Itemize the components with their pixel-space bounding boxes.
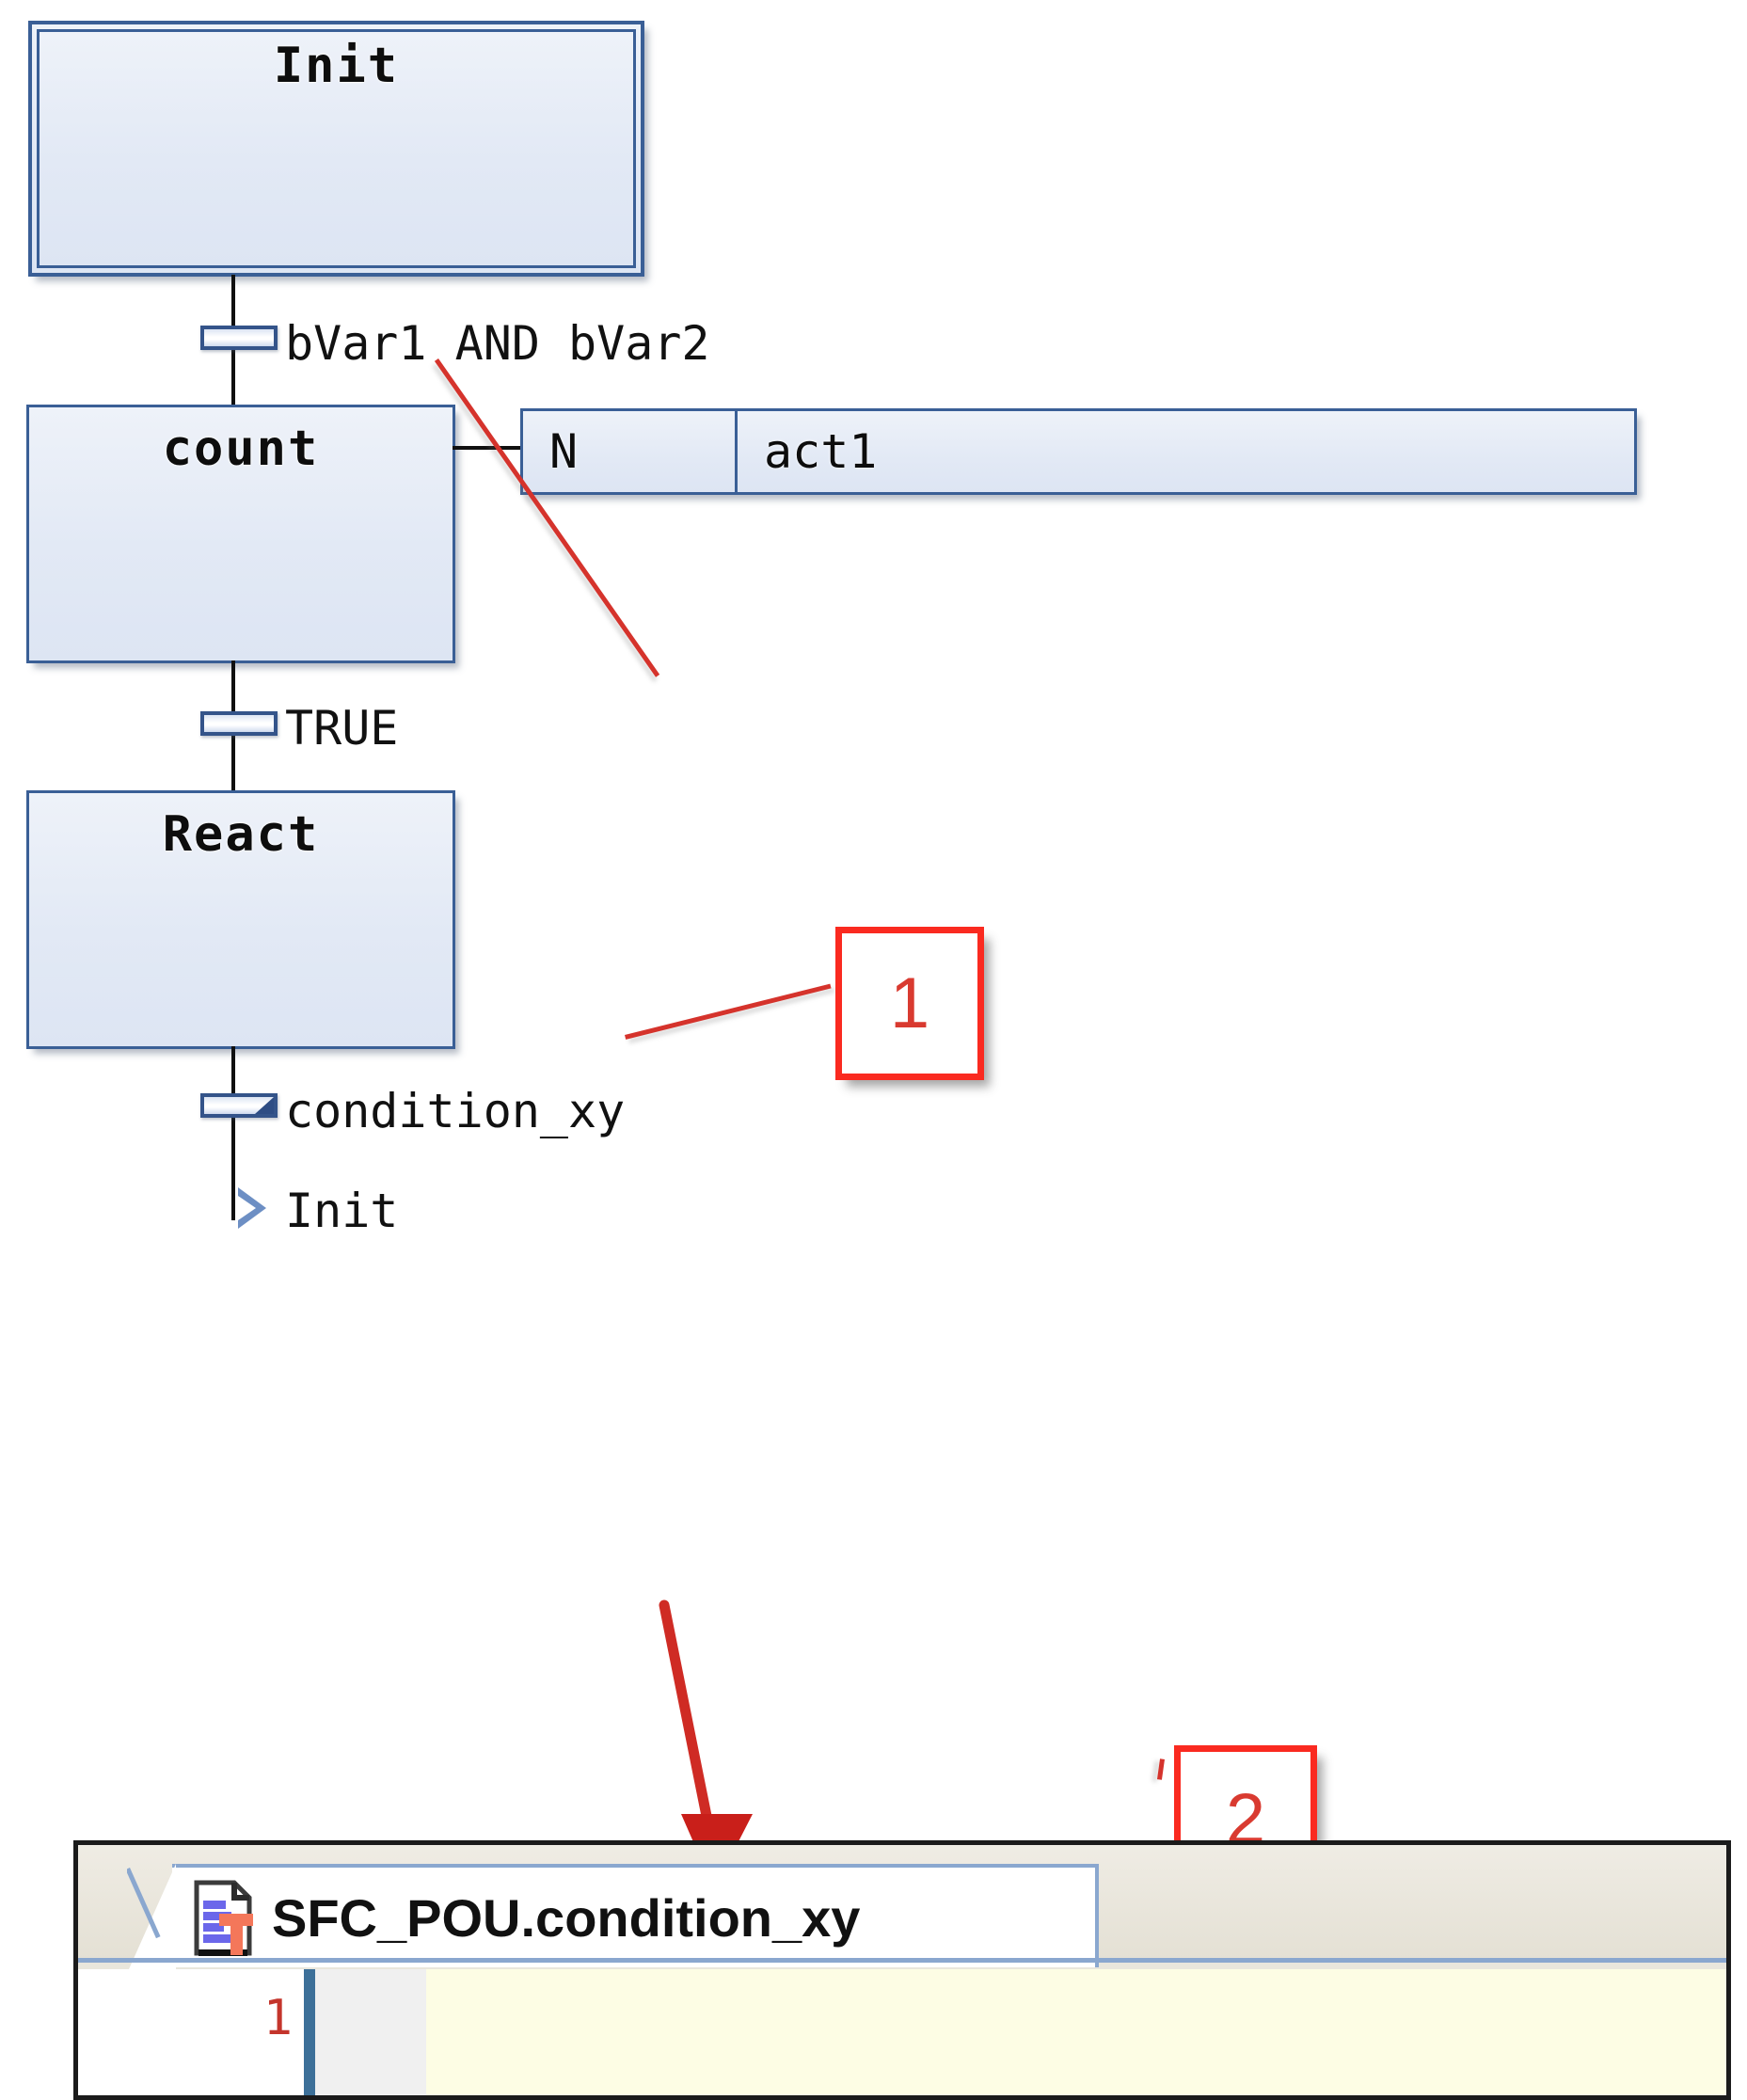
sfc-action-association[interactable]: N act1 [520, 408, 1637, 495]
action-name-text: act1 [738, 424, 877, 479]
sfc-transition-1-label: bVar1 AND bVar2 [285, 316, 710, 371]
st-code-line-1[interactable]: condition_xy:=(iy=100) AND bVar; [426, 1969, 1726, 2095]
connector-react-to-transition3 [231, 1046, 235, 1220]
callout-1-number: 1 [890, 968, 929, 1040]
editor-fold-gutter [315, 1969, 426, 2095]
st-transition-document-icon [193, 1880, 255, 1955]
callout-2-leader-line [1157, 1758, 1165, 1779]
action-qualifier-text: N [523, 424, 578, 479]
line-number-1: 1 [263, 1990, 293, 2046]
action-name-cell[interactable]: act1 [738, 411, 1634, 492]
sfc-step-count[interactable]: count [26, 405, 455, 663]
sfc-step-init-label: Init [32, 38, 641, 94]
sfc-step-init[interactable]: Init [28, 21, 644, 277]
editor-cursor-bar [304, 1969, 315, 2095]
sfc-step-count-label: count [29, 421, 453, 477]
callout-1-leader-line-a [435, 358, 659, 677]
sfc-transition-3-marker[interactable] [200, 1093, 278, 1118]
sfc-transition-2-label: TRUE [285, 701, 398, 756]
st-code-area[interactable]: 1 condition_xy:=(iy=100) AND bVar; [78, 1969, 1726, 2095]
sfc-jump-target-label: Init [285, 1184, 398, 1238]
callout-1-leader-line-b [625, 984, 832, 1040]
editor-tab-separator [78, 1958, 1726, 1963]
st-editor-panel[interactable]: SFC_POU.condition_xy 1 condition_xy:=(iy… [73, 1840, 1731, 2100]
action-qualifier-cell[interactable]: N [523, 411, 738, 492]
sfc-transition-3-label: condition_xy [285, 1084, 625, 1138]
callout-1: 1 [835, 927, 984, 1080]
connector-count-to-action [453, 446, 526, 450]
sfc-transition-1-marker[interactable] [200, 326, 278, 350]
sfc-step-react[interactable]: React [26, 790, 455, 1049]
sfc-step-react-label: React [29, 806, 453, 863]
sfc-jump-arrow-icon [238, 1187, 266, 1229]
editor-line-number-gutter: 1 [78, 1969, 304, 2095]
tab-slant-decoration [127, 1864, 176, 1971]
sfc-transition-2-marker[interactable] [200, 711, 278, 736]
editor-tab-condition-xy[interactable]: SFC_POU.condition_xy [172, 1864, 1099, 1967]
editor-tab-title: SFC_POU.condition_xy [272, 1887, 860, 1949]
